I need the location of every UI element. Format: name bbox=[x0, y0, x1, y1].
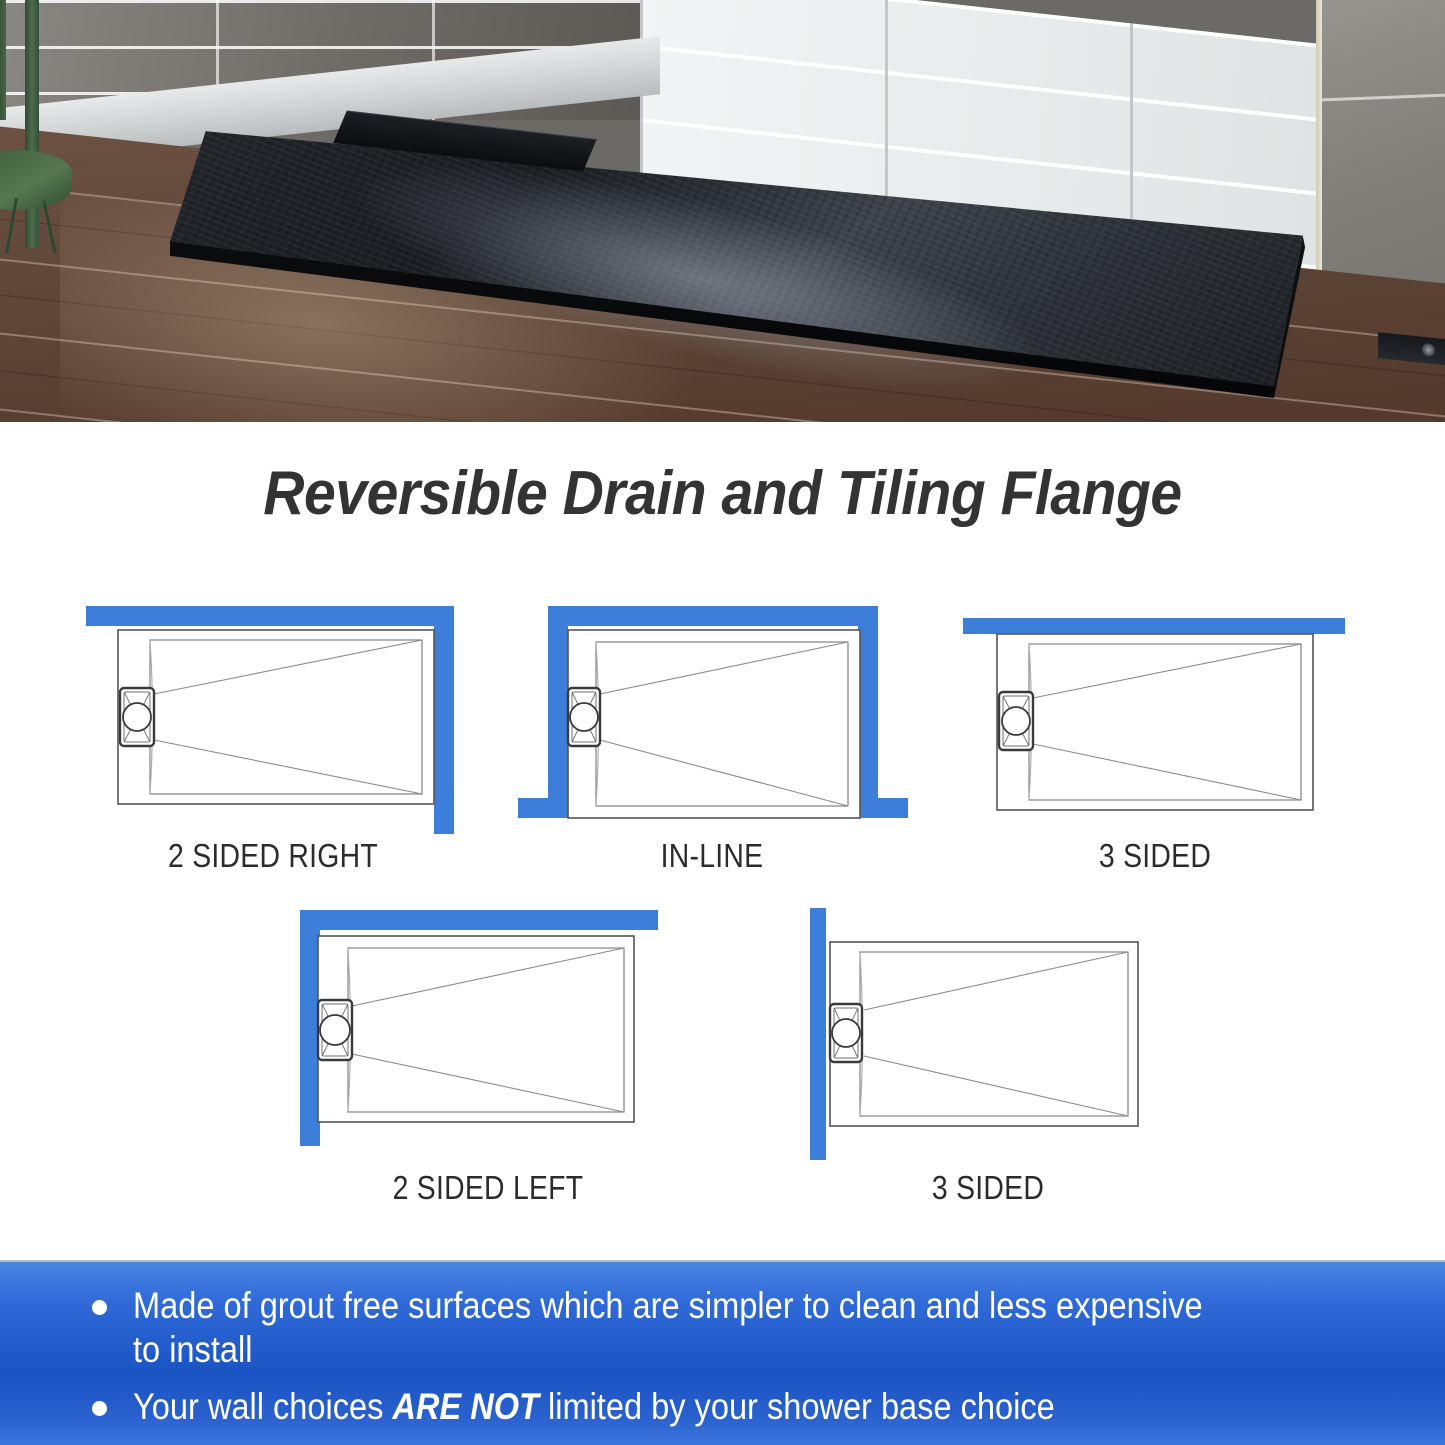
diagram-two-sided-right: 2 SIDED RIGHT bbox=[78, 602, 468, 875]
diagram-three-sided-top: 3 SIDED bbox=[955, 602, 1355, 875]
drain-icon bbox=[318, 1000, 352, 1060]
drain-icon bbox=[830, 1004, 862, 1062]
bullet-emphasis: ARE NOT bbox=[392, 1386, 539, 1427]
wall-left bbox=[810, 908, 826, 1160]
shelf-frame-post bbox=[25, 0, 39, 248]
shower-base bbox=[170, 108, 1320, 398]
bullet-dot-icon bbox=[92, 1300, 107, 1315]
wall-top bbox=[86, 606, 454, 626]
wall-right bbox=[434, 606, 454, 834]
wall-top bbox=[548, 606, 878, 626]
bullet-dot-icon bbox=[92, 1401, 107, 1416]
feature-bullet-list: Made of grout free surfaces which are si… bbox=[92, 1284, 1362, 1443]
shelf-frame-post-2 bbox=[0, 0, 6, 120]
three-sided-bottom-drawing bbox=[788, 904, 1188, 1169]
surface-highlight bbox=[342, 121, 1057, 422]
diagram-label-three-sided-bottom: 3 SIDED bbox=[816, 1169, 1160, 1207]
diagram-in-line: IN-LINE bbox=[512, 602, 912, 875]
diagram-label-three-sided-top: 3 SIDED bbox=[983, 837, 1327, 875]
wall-left-foot bbox=[518, 798, 568, 818]
two-sided-left-drawing bbox=[288, 904, 688, 1169]
feature-banner: Made of grout free surfaces which are si… bbox=[0, 1260, 1445, 1445]
wall-right bbox=[858, 606, 878, 818]
diagram-label-in-line: IN-LINE bbox=[540, 837, 884, 875]
three-sided-top-drawing bbox=[955, 602, 1355, 837]
two-sided-right-drawing bbox=[78, 602, 468, 837]
diagram-two-sided-left: 2 SIDED LEFT bbox=[288, 904, 688, 1207]
drain-icon bbox=[999, 692, 1033, 750]
diagram-three-sided-bottom: 3 SIDED bbox=[788, 904, 1188, 1207]
page-title: Reversible Drain and Tiling Flange bbox=[58, 458, 1387, 529]
bullet-text-2: Your wall choices ARE NOT limited by you… bbox=[133, 1385, 1215, 1429]
diagram-label-two-sided-right: 2 SIDED RIGHT bbox=[105, 837, 440, 875]
drain-icon bbox=[120, 688, 154, 746]
in-line-drawing bbox=[512, 602, 912, 837]
bullet-text-1: Made of grout free surfaces which are si… bbox=[133, 1284, 1215, 1371]
wall-top bbox=[963, 618, 1345, 634]
list-item: Your wall choices ARE NOT limited by you… bbox=[92, 1385, 1362, 1429]
product-photo bbox=[0, 0, 1445, 422]
drain-icon bbox=[568, 688, 600, 746]
wall-left bbox=[548, 606, 568, 818]
info-section: Reversible Drain and Tiling Flange bbox=[0, 422, 1445, 1260]
wall-top bbox=[300, 910, 658, 930]
diagram-label-two-sided-left: 2 SIDED LEFT bbox=[316, 1169, 660, 1207]
list-item: Made of grout free surfaces which are si… bbox=[92, 1284, 1362, 1371]
wall-right-foot bbox=[858, 798, 908, 818]
